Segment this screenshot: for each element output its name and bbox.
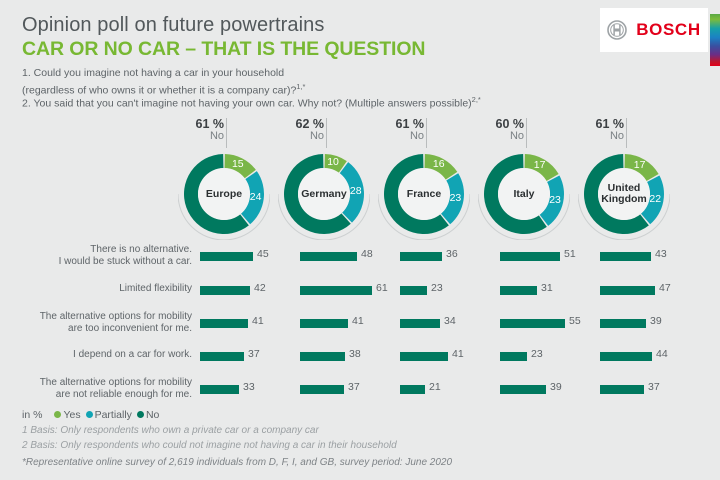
bar-europe-row-1 xyxy=(200,286,250,295)
bar-row-label-0: There is no alternative.I would be stuck… xyxy=(0,244,192,268)
donut-chart-europe: Europe1524 xyxy=(178,148,270,240)
donut-callout-line-3 xyxy=(526,118,527,148)
bar-value-italy-row-2: 55 xyxy=(569,315,581,327)
bar-value-germany-row-2: 41 xyxy=(352,315,364,327)
bar-row-label-2: The alternative options for mobilityare … xyxy=(0,311,192,335)
bar-france-row-1 xyxy=(400,286,427,295)
donut-no-percentage-0: 61 %No xyxy=(168,118,224,142)
donut-callout-line-1 xyxy=(326,118,327,148)
bar-value-germany-row-1: 61 xyxy=(376,282,388,294)
bar-value-europe-row-0: 45 xyxy=(257,248,269,260)
bar-italy-row-4 xyxy=(500,385,546,394)
donut-value-partially: 23 xyxy=(450,192,462,204)
bar-europe-row-2 xyxy=(200,319,248,328)
bar-value-europe-row-1: 42 xyxy=(254,282,266,294)
bar-row-label-line2: are too inconvenient for me. xyxy=(68,323,192,334)
legend-dot-partially xyxy=(86,411,93,418)
question-2-text: 2. You said that you can't imagine not h… xyxy=(22,98,472,110)
legend-item-no: No xyxy=(137,409,159,421)
bar-value-france-row-3: 41 xyxy=(452,348,464,360)
donut-no-percentage-label-0: No xyxy=(168,130,224,142)
bar-row-label-line1: The alternative options for mobility xyxy=(40,377,192,388)
bar-value-italy-row-3: 23 xyxy=(531,348,543,360)
question-2-superscript: 2,* xyxy=(472,95,481,104)
infographic-root: Opinion poll on future powertrains CAR O… xyxy=(0,0,720,480)
legend: in % Yes Partially No xyxy=(22,409,159,421)
bar-row-label-4: The alternative options for mobilityare … xyxy=(0,377,192,401)
bar-value-france-row-1: 23 xyxy=(431,282,443,294)
bar-value-germany-row-0: 48 xyxy=(361,248,373,260)
donut-value-partially: 22 xyxy=(649,193,661,205)
donut-callout-line-4 xyxy=(626,118,627,148)
bar-value-italy-row-0: 51 xyxy=(564,248,576,260)
page-subtitle: CAR OR NO CAR – THAT IS THE QUESTION xyxy=(22,38,425,61)
donut-country-label: Europe xyxy=(198,168,250,220)
donut-no-percentage-4: 61 %No xyxy=(568,118,624,142)
bar-germany-row-3 xyxy=(300,352,345,361)
question-1-superscript: 1,* xyxy=(296,82,305,91)
bar-row-label-line1: The alternative options for mobility xyxy=(40,311,192,322)
donut-value-yes: 10 xyxy=(327,156,339,168)
bar-italy-row-3 xyxy=(500,352,527,361)
donut-no-percentage-label-2: No xyxy=(368,130,424,142)
donut-no-percentage-value-1: 62 % xyxy=(268,118,324,130)
bar-germany-row-0 xyxy=(300,252,357,261)
donut-country-label: Italy xyxy=(498,168,550,220)
bar-europe-row-3 xyxy=(200,352,244,361)
bar-row-label-1: Limited flexibility xyxy=(0,283,192,295)
bar-france-row-3 xyxy=(400,352,448,361)
donut-value-yes: 16 xyxy=(433,158,445,170)
donut-no-percentage-3: 60 %No xyxy=(468,118,524,142)
legend-label-no: No xyxy=(146,409,159,421)
donut-no-percentage-label-3: No xyxy=(468,130,524,142)
donut-no-percentage-2: 61 %No xyxy=(368,118,424,142)
donut-chart-france: France1623 xyxy=(378,148,470,240)
bar-value-italy-row-1: 31 xyxy=(541,282,553,294)
bosch-armature-icon xyxy=(607,20,627,40)
donut-callout-line-0 xyxy=(226,118,227,148)
bar-france-row-0 xyxy=(400,252,442,261)
bar-italy-row-1 xyxy=(500,286,537,295)
bar-united-kingdom-row-2 xyxy=(600,319,646,328)
bar-value-united-kingdom-row-2: 39 xyxy=(650,315,662,327)
legend-dot-no xyxy=(137,411,144,418)
legend-label-partially: Partially xyxy=(95,409,132,421)
donut-no-percentage-1: 62 %No xyxy=(268,118,324,142)
question-2: 2. You said that you can't imagine not h… xyxy=(22,93,481,111)
bar-value-united-kingdom-row-3: 44 xyxy=(656,348,668,360)
bar-italy-row-2 xyxy=(500,319,565,328)
donut-callout-line-2 xyxy=(426,118,427,148)
bar-value-germany-row-4: 37 xyxy=(348,381,360,393)
bar-germany-row-1 xyxy=(300,286,372,295)
bar-germany-row-2 xyxy=(300,319,348,328)
legend-item-partially: Partially xyxy=(86,409,132,421)
bar-italy-row-0 xyxy=(500,252,560,261)
bar-united-kingdom-row-3 xyxy=(600,352,652,361)
donut-country-label: UnitedKingdom xyxy=(598,168,650,220)
footnote-1: 1 Basis: Only respondents who own a priv… xyxy=(22,425,319,436)
donut-value-partially: 24 xyxy=(250,191,262,203)
bar-row-label-3: I depend on a car for work. xyxy=(0,349,192,361)
donut-no-percentage-label-4: No xyxy=(568,130,624,142)
donut-value-partially: 28 xyxy=(350,185,362,197)
bar-value-france-row-4: 21 xyxy=(429,381,441,393)
bar-europe-row-4 xyxy=(200,385,239,394)
legend-item-yes: Yes xyxy=(54,409,80,421)
bar-value-united-kingdom-row-0: 43 xyxy=(655,248,667,260)
bar-value-germany-row-3: 38 xyxy=(349,348,361,360)
donut-no-percentage-label-1: No xyxy=(268,130,324,142)
bar-row-label-line2: are not reliable enough for me. xyxy=(56,389,192,400)
footnote-2: 2 Basis: Only respondents who could not … xyxy=(22,440,397,451)
bar-germany-row-4 xyxy=(300,385,344,394)
bar-united-kingdom-row-0 xyxy=(600,252,651,261)
bar-united-kingdom-row-1 xyxy=(600,286,655,295)
bar-row-label-line1: There is no alternative. xyxy=(90,244,192,255)
bosch-logo: BOSCH xyxy=(600,8,708,52)
bosch-supergraphic-stripe xyxy=(710,14,720,66)
legend-dot-yes xyxy=(54,411,61,418)
footnote-3: *Representative online survey of 2,619 i… xyxy=(22,457,452,468)
bar-row-label-line1: I depend on a car for work. xyxy=(73,349,192,360)
bar-united-kingdom-row-4 xyxy=(600,385,644,394)
bar-value-europe-row-4: 33 xyxy=(243,381,255,393)
page-title: Opinion poll on future powertrains xyxy=(22,14,324,37)
bar-row-label-line2: I would be stuck without a car. xyxy=(59,256,192,267)
donut-value-yes: 15 xyxy=(232,158,244,170)
donut-country-label: France xyxy=(398,168,450,220)
bar-value-europe-row-3: 37 xyxy=(248,348,260,360)
bar-value-europe-row-2: 41 xyxy=(252,315,264,327)
bar-value-italy-row-4: 39 xyxy=(550,381,562,393)
donut-chart-germany: Germany1028 xyxy=(278,148,370,240)
donut-no-percentage-value-0: 61 % xyxy=(168,118,224,130)
bosch-wordmark: BOSCH xyxy=(636,20,700,40)
donut-chart-united-kingdom: UnitedKingdom1722 xyxy=(578,148,670,240)
legend-unit: in % xyxy=(22,409,42,421)
bar-value-france-row-0: 36 xyxy=(446,248,458,260)
donut-no-percentage-value-4: 61 % xyxy=(568,118,624,130)
bar-value-united-kingdom-row-1: 47 xyxy=(659,282,671,294)
donut-value-yes: 17 xyxy=(634,159,646,171)
bar-france-row-2 xyxy=(400,319,440,328)
donut-no-percentage-value-3: 60 % xyxy=(468,118,524,130)
bar-value-france-row-2: 34 xyxy=(444,315,456,327)
donut-chart-italy: Italy1723 xyxy=(478,148,570,240)
bar-value-united-kingdom-row-4: 37 xyxy=(648,381,660,393)
donut-value-partially: 23 xyxy=(549,194,561,206)
legend-label-yes: Yes xyxy=(63,409,80,421)
question-1-line-1: 1. Could you imagine not having a car in… xyxy=(22,67,284,80)
bar-europe-row-0 xyxy=(200,252,253,261)
bar-france-row-4 xyxy=(400,385,425,394)
donut-no-percentage-value-2: 61 % xyxy=(368,118,424,130)
donut-country-label: Germany xyxy=(298,168,350,220)
donut-value-yes: 17 xyxy=(534,159,546,171)
bar-row-label-line1: Limited flexibility xyxy=(119,283,192,294)
